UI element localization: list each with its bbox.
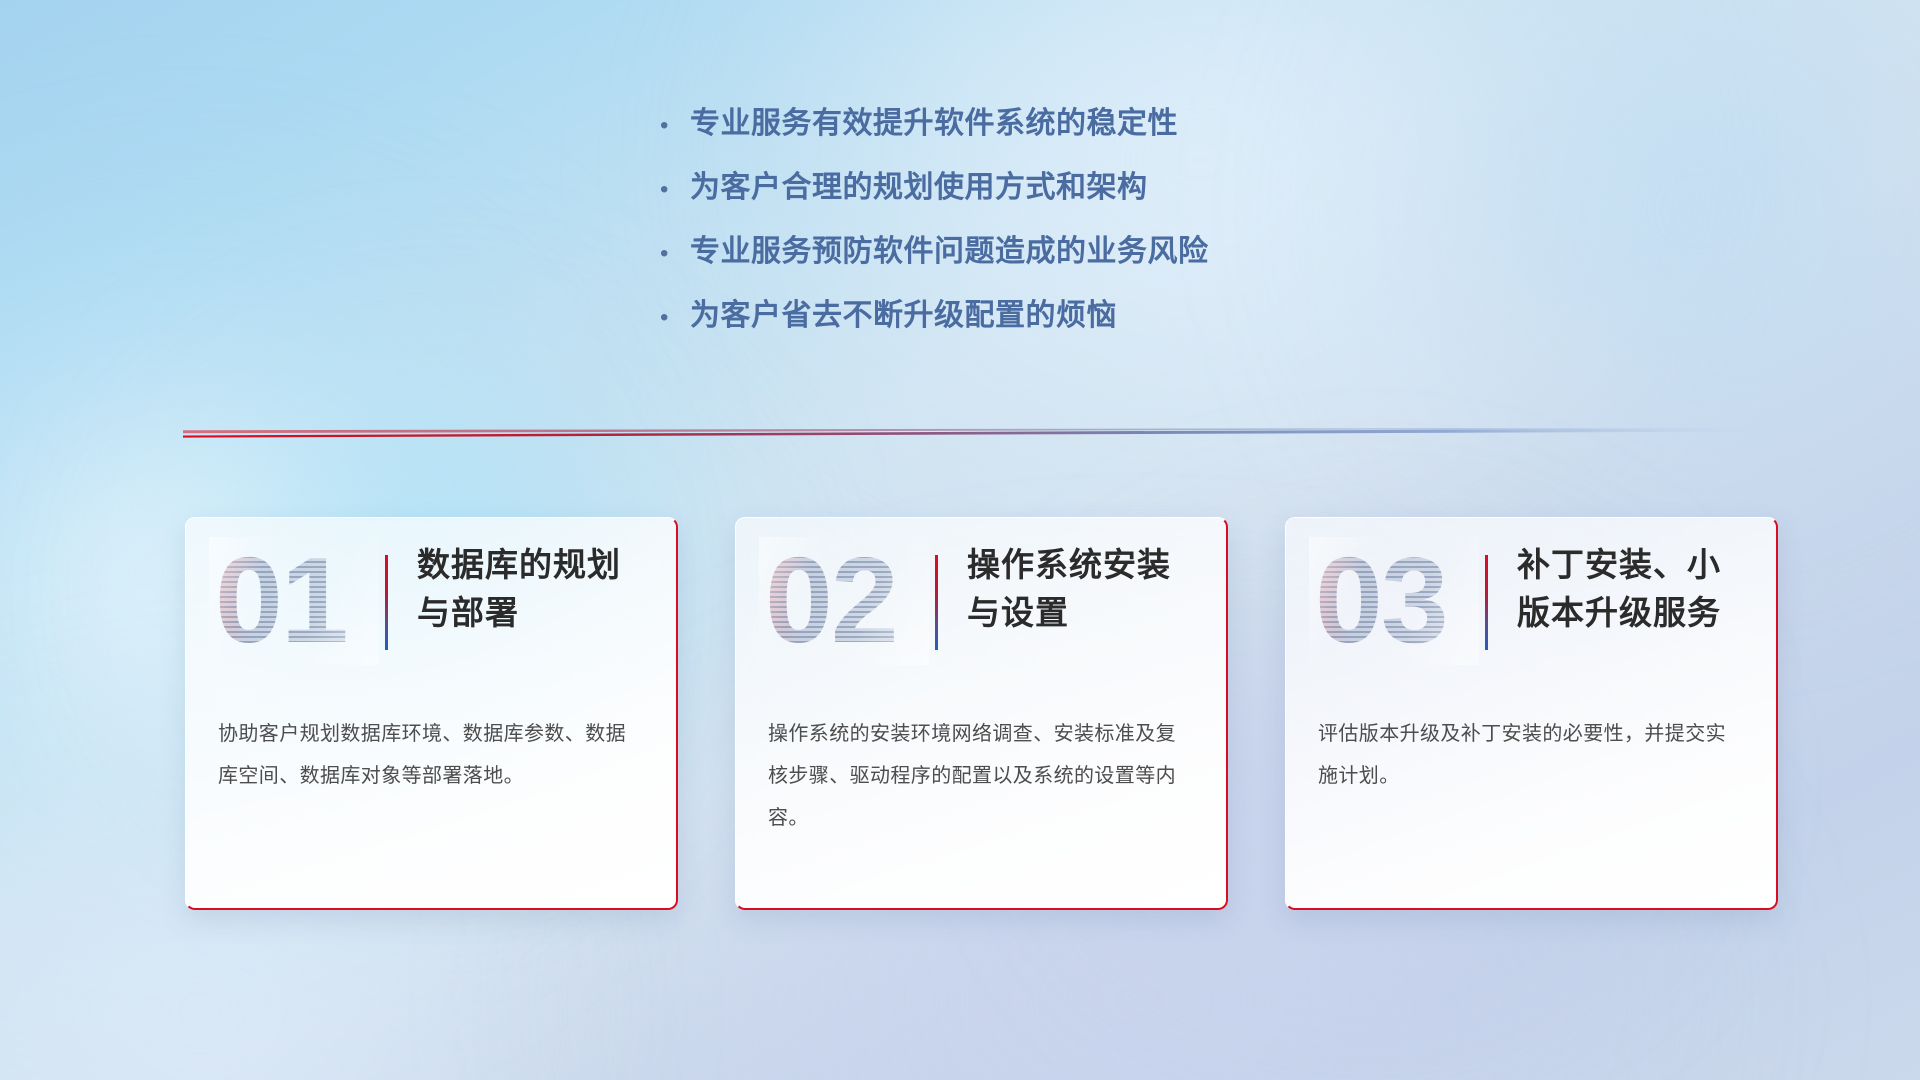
list-item: • 专业服务预防软件问题造成的业务风险 bbox=[660, 226, 1209, 290]
card-title: 数据库的规划 与部署 bbox=[417, 541, 663, 637]
bullet-point-icon: • bbox=[660, 306, 690, 330]
service-card[interactable]: 02 操作系统安装 与设置 操作系统的安装环境网络调查、安装标准及复核步骤、驱动… bbox=[735, 517, 1228, 910]
benefits-bullet-list: • 专业服务有效提升软件系统的稳定性 • 为客户合理的规划使用方式和架构 • 专… bbox=[660, 98, 1209, 354]
card-title-line2: 版本升级服务 bbox=[1517, 594, 1721, 631]
service-card-group: 01 数据库的规划 与部署 协助客户规划数据库环境、数据库参数、数据库空间、数据… bbox=[0, 517, 1920, 917]
section-divider bbox=[183, 424, 1763, 438]
bullet-text: 为客户合理的规划使用方式和架构 bbox=[690, 162, 1148, 206]
card-title: 补丁安装、小 版本升级服务 bbox=[1517, 541, 1763, 637]
card-number-watermark: 01 bbox=[215, 541, 365, 659]
card-title-line2: 与部署 bbox=[417, 594, 519, 631]
bullet-text: 专业服务预防软件问题造成的业务风险 bbox=[690, 226, 1209, 270]
card-title-line1: 补丁安装、小 bbox=[1517, 546, 1721, 583]
bullet-text: 专业服务有效提升软件系统的稳定性 bbox=[690, 98, 1178, 142]
card-number-watermark: 02 bbox=[765, 541, 915, 659]
card-title-line1: 数据库的规划 bbox=[417, 546, 621, 583]
service-card[interactable]: 03 补丁安装、小 版本升级服务 评估版本升级及补丁安装的必要性，并提交实施计划… bbox=[1285, 517, 1778, 910]
list-item: • 为客户省去不断升级配置的烦恼 bbox=[660, 290, 1209, 354]
list-item: • 专业服务有效提升软件系统的稳定性 bbox=[660, 98, 1209, 162]
title-accent-bar bbox=[385, 555, 388, 650]
bullet-point-icon: • bbox=[660, 114, 690, 138]
card-body-text: 协助客户规划数据库环境、数据库参数、数据库空间、数据库对象等部署落地。 bbox=[218, 713, 642, 797]
card-title-line2: 与设置 bbox=[967, 594, 1069, 631]
bullet-point-icon: • bbox=[660, 242, 690, 266]
card-body-text: 操作系统的安装环境网络调查、安装标准及复核步骤、驱动程序的配置以及系统的设置等内… bbox=[768, 713, 1192, 839]
bullet-point-icon: • bbox=[660, 178, 690, 202]
card-header: 03 补丁安装、小 版本升级服务 bbox=[1285, 517, 1778, 677]
title-accent-bar bbox=[1485, 555, 1488, 650]
card-header: 02 操作系统安装 与设置 bbox=[735, 517, 1228, 677]
card-title: 操作系统安装 与设置 bbox=[967, 541, 1213, 637]
card-body-text: 评估版本升级及补丁安装的必要性，并提交实施计划。 bbox=[1318, 713, 1742, 797]
card-header: 01 数据库的规划 与部署 bbox=[185, 517, 678, 677]
card-number-watermark: 03 bbox=[1315, 541, 1465, 659]
bullet-text: 为客户省去不断升级配置的烦恼 bbox=[690, 290, 1117, 334]
title-accent-bar bbox=[935, 555, 938, 650]
service-card[interactable]: 01 数据库的规划 与部署 协助客户规划数据库环境、数据库参数、数据库空间、数据… bbox=[185, 517, 678, 910]
list-item: • 为客户合理的规划使用方式和架构 bbox=[660, 162, 1209, 226]
card-title-line1: 操作系统安装 bbox=[967, 546, 1171, 583]
